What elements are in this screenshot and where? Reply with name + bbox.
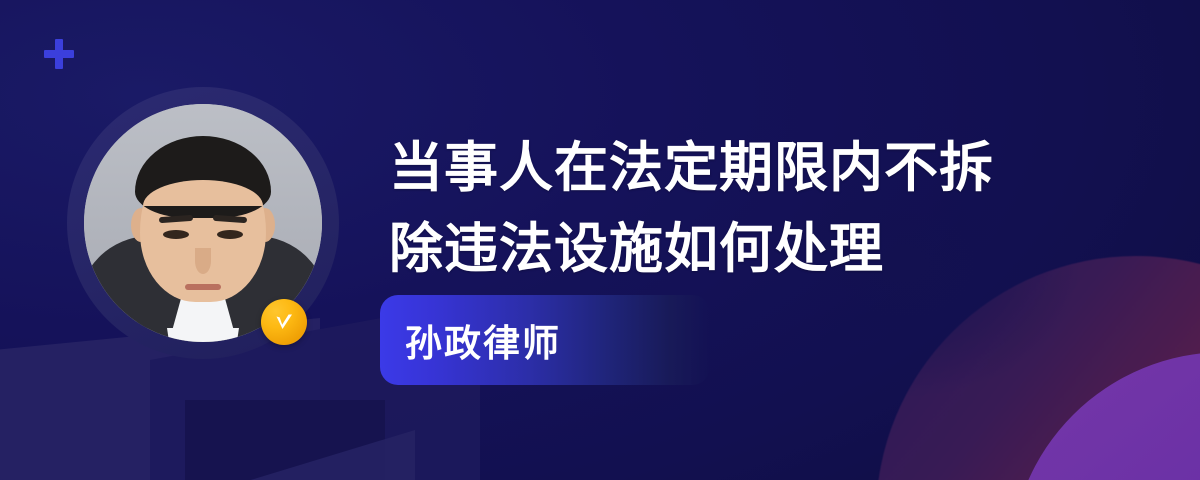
portrait-mouth	[185, 284, 221, 290]
lawyer-name-badge: 孙政律师	[380, 295, 710, 385]
lawyer-video-cover-card: 当事人在法定期限内不拆 除违法设施如何处理 孙政律师	[0, 0, 1200, 480]
portrait-eye-left	[163, 230, 189, 239]
portrait-nose	[195, 248, 211, 274]
lawyer-name-label: 孙政律师	[405, 313, 561, 367]
portrait-eye-right	[217, 230, 243, 239]
plus-icon-bar-vertical	[55, 39, 63, 69]
plus-icon	[44, 39, 74, 69]
page-title: 当事人在法定期限内不拆 除违法设施如何处理	[389, 128, 1089, 290]
verified-check-icon	[261, 299, 307, 345]
